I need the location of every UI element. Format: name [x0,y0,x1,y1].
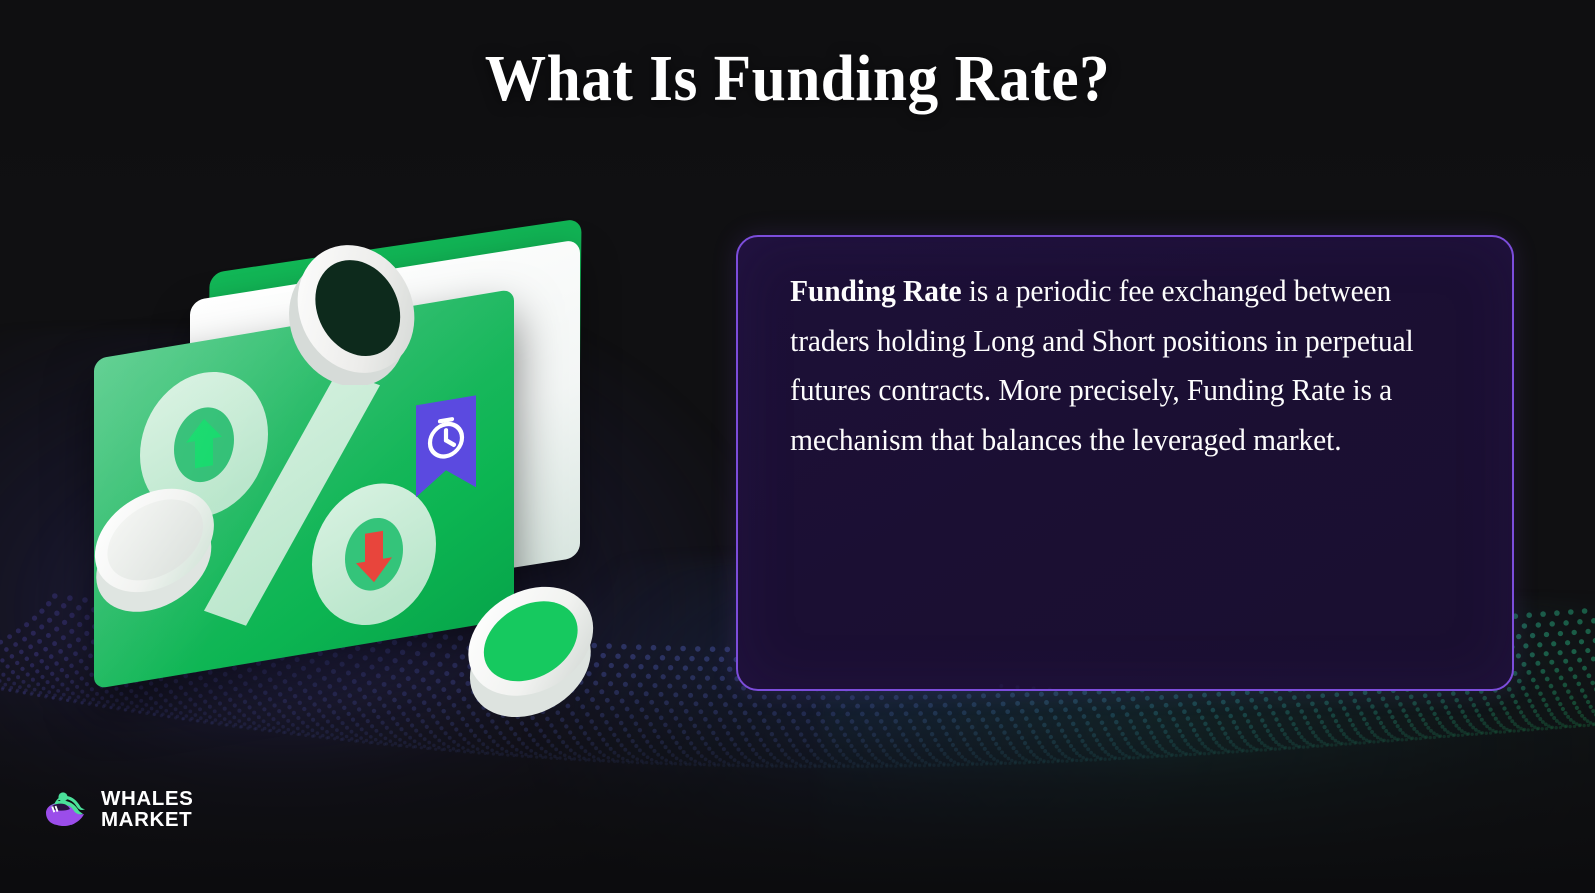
brand-logo-text: Whales Market [101,788,193,830]
definition-lead: Funding Rate [790,274,961,308]
definition-text: Funding Rate is a periodic fee exchanged… [738,237,1485,466]
brand-logo-line1: Whales [101,788,193,809]
infographic-canvas: What Is Funding Rate? [0,0,1595,893]
stopwatch-icon [430,418,462,459]
page-title: What Is Funding Rate? [56,41,1539,117]
whale-logo-icon [42,786,88,832]
coin-left [58,454,254,632]
brand-logo-line2: Market [101,809,193,830]
card-dot-wave [738,525,1514,691]
coin-top [272,233,440,385]
brand-logo[interactable]: Whales Market [42,786,193,832]
definition-card: Funding Rate is a periodic fee exchanged… [736,235,1514,691]
illustration [60,236,660,726]
stopwatch-bookmark-ribbon [416,395,476,497]
coin-right [430,554,630,734]
